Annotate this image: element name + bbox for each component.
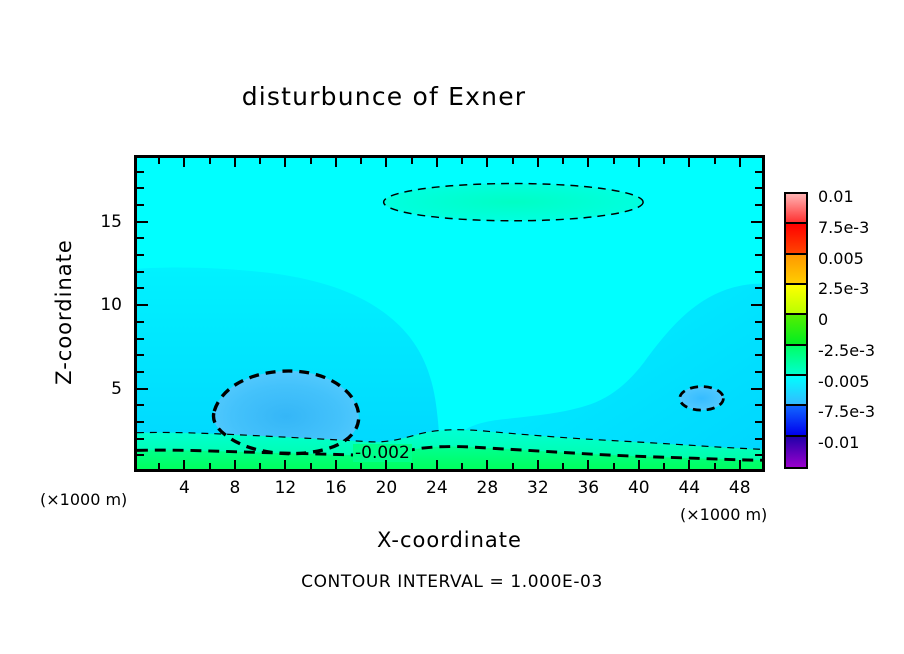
- x-axis-tick: [512, 463, 514, 469]
- x-axis-tick: [562, 463, 564, 469]
- y-axis-tick: [755, 454, 762, 456]
- x-axis-tick: [714, 158, 716, 164]
- x-axis-tick: [688, 158, 690, 167]
- y-axis-tick: [755, 187, 762, 189]
- y-axis-tick: [137, 321, 144, 323]
- x-axis-tick: [537, 158, 539, 167]
- x-axis-tick: [158, 158, 160, 164]
- colorbar-band: [786, 194, 806, 224]
- x-tick-label: 12: [265, 478, 305, 498]
- x-axis-tick: [360, 463, 362, 469]
- y-axis-tick: [137, 187, 144, 189]
- colorbar-band: [786, 437, 806, 467]
- colorbar: [784, 192, 808, 469]
- contour-field: [137, 158, 762, 469]
- y-axis-tick: [751, 388, 762, 390]
- colorbar-tick-label: -0.005: [818, 372, 870, 391]
- x-units-label-left: (×1000 m): [40, 490, 127, 509]
- y-axis-tick: [751, 221, 762, 223]
- y-axis-tick: [137, 271, 144, 273]
- y-tick-label: 15: [92, 212, 122, 232]
- x-axis-tick: [360, 158, 362, 164]
- contour-plot-frame: -0.002: [134, 155, 765, 472]
- y-axis-tick: [137, 388, 148, 390]
- x-axis-tick: [234, 460, 236, 469]
- x-axis-tick: [310, 463, 312, 469]
- y-axis-tick: [137, 221, 148, 223]
- x-axis-tick: [461, 158, 463, 164]
- y-axis-tick: [137, 254, 144, 256]
- x-axis-tick: [587, 460, 589, 469]
- x-axis-tick: [436, 460, 438, 469]
- colorbar-tick-label: -2.5e-3: [818, 341, 875, 360]
- x-axis-tick: [183, 158, 185, 167]
- y-axis-tick: [137, 421, 144, 423]
- colorbar-tick-label: 0: [818, 310, 828, 329]
- x-axis-tick: [613, 463, 615, 469]
- colorbar-tick-label: 2.5e-3: [818, 279, 869, 298]
- x-axis-tick: [613, 158, 615, 164]
- x-tick-label: 8: [215, 478, 255, 498]
- colorbar-tick-label: -0.01: [818, 433, 859, 452]
- y-tick-label: 5: [92, 379, 122, 399]
- x-axis-tick: [663, 158, 665, 164]
- y-axis-tick: [755, 271, 762, 273]
- x-tick-label: 36: [568, 478, 608, 498]
- y-axis-tick: [755, 404, 762, 406]
- x-axis-tick: [385, 158, 387, 167]
- x-axis-tick: [714, 463, 716, 469]
- x-tick-label: 48: [720, 478, 760, 498]
- x-axis-tick: [638, 158, 640, 167]
- y-axis-tick: [751, 304, 762, 306]
- x-axis-tick: [486, 158, 488, 167]
- x-tick-label: 24: [417, 478, 457, 498]
- colorbar-band: [786, 285, 806, 315]
- y-axis-tick: [137, 404, 144, 406]
- x-tick-label: 32: [518, 478, 558, 498]
- y-axis-tick: [755, 254, 762, 256]
- x-axis-tick: [158, 463, 160, 469]
- x-axis-tick: [385, 460, 387, 469]
- y-axis-tick: [137, 338, 144, 340]
- x-axis-tick: [587, 158, 589, 167]
- y-axis-tick: [137, 454, 144, 456]
- x-axis-tick: [183, 460, 185, 469]
- y-axis-tick: [137, 204, 144, 206]
- x-axis-tick: [259, 463, 261, 469]
- x-axis-tick: [638, 460, 640, 469]
- y-axis-tick: [755, 237, 762, 239]
- x-tick-label: 16: [316, 478, 356, 498]
- y-axis-tick: [137, 371, 144, 373]
- x-tick-label: 44: [669, 478, 709, 498]
- colorbar-band: [786, 346, 806, 376]
- y-axis-tick: [137, 171, 144, 173]
- x-axis-tick: [562, 158, 564, 164]
- x-axis-tick: [537, 460, 539, 469]
- colorbar-band: [786, 376, 806, 406]
- colorbar-band: [786, 406, 806, 436]
- x-axis-tick: [234, 158, 236, 167]
- x-tick-label: 4: [164, 478, 204, 498]
- y-tick-label: 10: [92, 295, 122, 315]
- y-axis-tick: [755, 171, 762, 173]
- y-axis-tick: [755, 421, 762, 423]
- x-axis-tick: [335, 158, 337, 167]
- x-axis-tick: [310, 158, 312, 164]
- colorbar-tick-label: 0.005: [818, 249, 864, 268]
- x-axis-tick: [512, 158, 514, 164]
- y-axis-tick: [137, 438, 144, 440]
- x-units-label-right: (×1000 m): [680, 505, 767, 524]
- y-axis-tick: [137, 287, 144, 289]
- x-axis-tick: [486, 460, 488, 469]
- colorbar-tick-label: 7.5e-3: [818, 218, 869, 237]
- x-axis-tick: [411, 158, 413, 164]
- x-axis-tick: [284, 158, 286, 167]
- y-axis-tick: [137, 304, 148, 306]
- y-axis-tick: [755, 321, 762, 323]
- x-axis-tick: [209, 463, 211, 469]
- x-tick-label: 28: [467, 478, 507, 498]
- colorbar-band: [786, 315, 806, 345]
- y-axis-tick: [755, 354, 762, 356]
- x-axis-tick: [209, 158, 211, 164]
- x-axis-tick: [663, 463, 665, 469]
- x-axis-title: X-coordinate: [134, 528, 765, 552]
- colorbar-tick-label: -7.5e-3: [818, 402, 875, 421]
- y-axis-tick: [755, 338, 762, 340]
- x-axis-tick: [259, 158, 261, 164]
- y-axis-title: Z-coordinate: [52, 202, 76, 422]
- x-axis-tick: [461, 463, 463, 469]
- contour-inline-label: -0.002: [353, 444, 412, 462]
- y-axis-tick: [137, 354, 144, 356]
- colorbar-band: [786, 255, 806, 285]
- colorbar-tick-label: 0.01: [818, 187, 854, 206]
- x-tick-label: 40: [619, 478, 659, 498]
- page-title: disturbunce of Exner: [0, 82, 768, 111]
- x-axis-tick: [335, 460, 337, 469]
- colorbar-band: [786, 224, 806, 254]
- x-axis-tick: [739, 158, 741, 167]
- x-axis-tick: [436, 158, 438, 167]
- x-axis-tick: [284, 460, 286, 469]
- x-axis-tick: [411, 463, 413, 469]
- y-axis-tick: [137, 237, 144, 239]
- y-axis-tick: [755, 438, 762, 440]
- x-axis-tick: [688, 460, 690, 469]
- x-tick-label: 20: [366, 478, 406, 498]
- x-axis-tick: [739, 460, 741, 469]
- y-axis-tick: [755, 204, 762, 206]
- y-axis-tick: [755, 371, 762, 373]
- y-axis-tick: [755, 287, 762, 289]
- contour-interval-caption: CONTOUR INTERVAL = 1.000E-03: [0, 572, 904, 592]
